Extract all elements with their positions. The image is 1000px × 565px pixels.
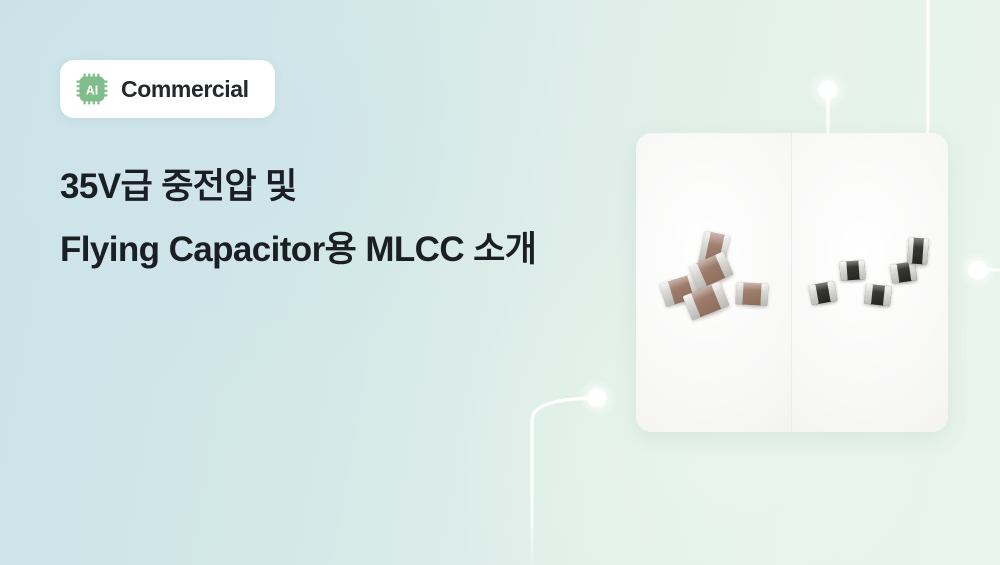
page-title-line-2: Flying Capacitor용 MLCC 소개: [60, 218, 620, 281]
product-image-card: [636, 133, 948, 432]
badge-label: Commercial: [121, 76, 249, 103]
mlcc-component: [735, 282, 768, 306]
mlcc-component: [907, 237, 929, 264]
photo-pane-dark-mlcc: [791, 133, 948, 432]
page-title-line-1: 35V급 중전압 및: [60, 155, 620, 218]
mlcc-component: [808, 281, 837, 305]
svg-text:AI: AI: [86, 83, 99, 97]
photo-pane-brown-mlcc: [636, 133, 791, 432]
mlcc-component: [864, 284, 892, 307]
ai-chip-icon: AI: [76, 73, 108, 105]
category-badge[interactable]: AI Commercial: [60, 60, 275, 118]
mlcc-component: [839, 260, 865, 281]
page-title: 35V급 중전압 및 Flying Capacitor용 MLCC 소개: [60, 155, 620, 281]
